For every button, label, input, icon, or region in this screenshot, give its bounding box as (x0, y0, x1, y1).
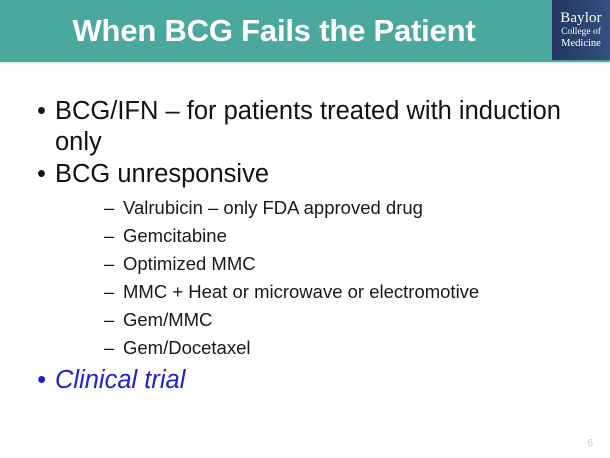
list-item: – MMC + Heat or microwave or electromoti… (89, 278, 594, 306)
list-item: – Optimized MMC (89, 250, 594, 278)
slide-title: When BCG Fails the Patient (0, 12, 548, 50)
dash-marker-icon: – (104, 306, 114, 334)
dash-marker-icon: – (104, 194, 114, 222)
page-number: 6 (587, 438, 593, 450)
list-item-label: Gemcitabine (123, 225, 227, 246)
list-item-label: Clinical trial (55, 366, 185, 394)
logo-line-baylor: Baylor (552, 10, 610, 27)
bullet-marker-icon: • (37, 159, 46, 190)
dash-marker-icon: – (104, 278, 114, 306)
logo-line-college-of: College of (552, 27, 610, 38)
presentation-slide: When BCG Fails the Patient Baylor Colleg… (0, 0, 610, 458)
baylor-college-of-medicine-logo: Baylor College of Medicine (552, 0, 610, 60)
logo-line-medicine: Medicine (552, 38, 610, 50)
list-item-clinical-trial: • Clinical trial (20, 365, 594, 396)
list-item-label: BCG/IFN – for patients treated with indu… (55, 97, 561, 156)
list-item-label: Valrubicin – only FDA approved drug (123, 197, 423, 218)
dash-marker-icon: – (104, 222, 114, 250)
list-item-label: BCG unresponsive (55, 160, 269, 188)
dash-marker-icon: – (104, 334, 114, 362)
bullet-marker-icon: • (37, 365, 46, 396)
dash-marker-icon: – (104, 250, 114, 278)
bullet-list: • BCG/IFN – for patients treated with in… (0, 96, 610, 396)
list-item-label: Optimized MMC (123, 253, 256, 274)
list-item-label: Gem/MMC (123, 309, 212, 330)
list-item: – Gem/MMC (89, 306, 594, 334)
list-item: – Gem/Docetaxel (89, 334, 594, 362)
sub-bullet-list: – Valrubicin – only FDA approved drug – … (55, 194, 594, 362)
list-item: • BCG/IFN – for patients treated with in… (20, 96, 594, 158)
list-item-label: MMC + Heat or microwave or electromotive (123, 281, 479, 302)
list-item: • BCG unresponsive – Valrubicin – only F… (20, 159, 594, 362)
slide-body: • BCG/IFN – for patients treated with in… (0, 96, 610, 397)
list-item: – Valrubicin – only FDA approved drug (89, 194, 594, 222)
list-item-label: Gem/Docetaxel (123, 337, 251, 358)
bullet-marker-icon: • (37, 96, 46, 127)
list-item: – Gemcitabine (89, 222, 594, 250)
header-band-fade (0, 62, 610, 65)
